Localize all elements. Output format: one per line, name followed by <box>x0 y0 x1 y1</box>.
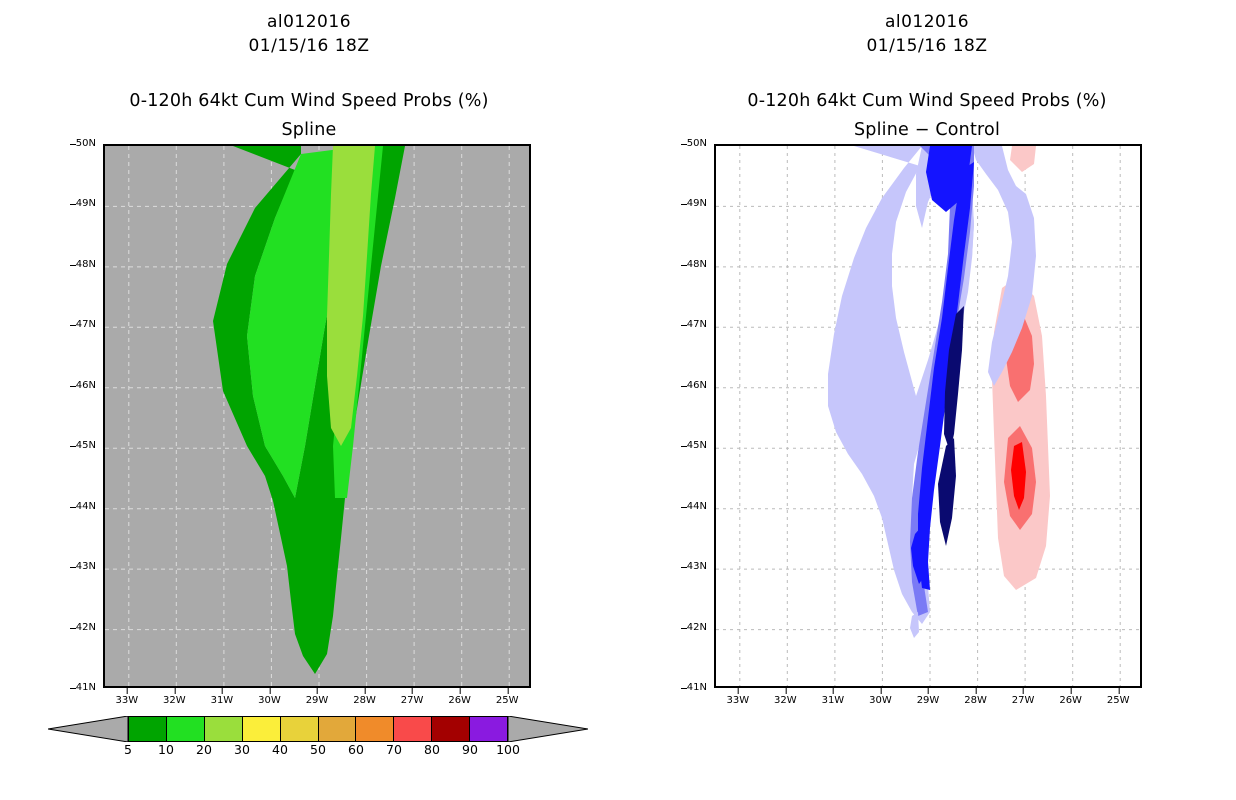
colorbar-tick-70: 70 <box>386 744 402 757</box>
colorbar-swatch-5-10 <box>129 717 167 741</box>
colorbar-tick-50: 50 <box>310 744 326 757</box>
colorbar-over-arrow-left <box>508 716 588 742</box>
xtick-label-30w: 30W <box>258 696 281 706</box>
xtick-label-26w: 26W <box>448 696 471 706</box>
xtick-label-29w: 29W <box>306 696 329 706</box>
ytick-label-44n: 44N <box>76 502 96 512</box>
colorbar-swatch-30-40 <box>243 717 281 741</box>
map-canvas-difference <box>714 144 1142 688</box>
contour-layer-difference <box>716 146 1142 688</box>
ytick-label-41n-right: 41N <box>687 683 707 693</box>
ytick-label-42n: 42N <box>76 623 96 633</box>
xtick-label-27w: 27W <box>401 696 424 706</box>
colorbar-swatch-70-80 <box>394 717 432 741</box>
xtick-label-26w-right: 26W <box>1059 696 1082 706</box>
ytick-label-48n-right: 48N <box>687 260 707 270</box>
ytick-label-49n-right: 49N <box>687 199 707 209</box>
contour-band-neg-lt-10-south <box>938 438 956 546</box>
xtick-label-28w-right: 28W <box>964 696 987 706</box>
colorbar-tick-20: 20 <box>196 744 212 757</box>
ytick-label-41n: 41N <box>76 683 96 693</box>
colorbar-tick-90: 90 <box>462 744 478 757</box>
colorbar-swatch-40-50 <box>281 717 319 741</box>
colorbar-swatch-50-60 <box>319 717 357 741</box>
xtick-label-30w-right: 30W <box>869 696 892 706</box>
xtick-label-27w-right: 27W <box>1012 696 1035 706</box>
ytick-label-47n: 47N <box>76 320 96 330</box>
colorbar-swatch-20-30 <box>205 717 243 741</box>
colorbar-strip-left <box>128 716 508 742</box>
ytick-label-45n-right: 45N <box>687 441 707 451</box>
ytick-label-43n-right: 43N <box>687 562 707 572</box>
xtick-label-31w: 31W <box>211 696 234 706</box>
map-plot-difference: 50N 49N 48N 47N 46N 45N 44N 43N 42N 41N … <box>714 144 1142 688</box>
panel-spline-minus-control: al012016 01/15/16 18Z 0-120h 64kt Cum Wi… <box>618 0 1236 800</box>
ytick-label-46n: 46N <box>76 381 96 391</box>
map-canvas-spline <box>103 144 531 688</box>
colorbar-tick-10: 10 <box>158 744 174 757</box>
ytick-label-43n: 43N <box>76 562 96 572</box>
datetime-left: 01/15/16 18Z <box>0 36 618 56</box>
main-title-right: 0-120h 64kt Cum Wind Speed Probs (%) <box>618 91 1236 111</box>
panel-spline: al012016 01/15/16 18Z 0-120h 64kt Cum Wi… <box>0 0 618 800</box>
contour-band-pos-1-3-north <box>1010 146 1036 172</box>
colorbar-tick-30: 30 <box>234 744 250 757</box>
xtick-label-33w: 33W <box>115 696 138 706</box>
colorbar-probability: 5 10 20 30 40 50 60 70 80 90 100 <box>48 710 588 770</box>
subtitle-right: Spline − Control <box>618 120 1236 140</box>
ytick-label-50n: 50N <box>76 139 96 149</box>
xtick-label-28w: 28W <box>353 696 376 706</box>
colorbar-tick-40: 40 <box>272 744 288 757</box>
storm-id-left: al012016 <box>0 12 618 32</box>
colorbar-tick-5: 5 <box>124 744 132 757</box>
ytick-label-46n-right: 46N <box>687 381 707 391</box>
map-plot-spline: 50N 49N 48N 47N 46N 45N 44N 43N 42N 41N … <box>103 144 531 688</box>
xtick-label-25w: 25W <box>496 696 519 706</box>
ytick-label-45n: 45N <box>76 441 96 451</box>
colorbar-tick-60: 60 <box>348 744 364 757</box>
xtick-label-25w-right: 25W <box>1107 696 1130 706</box>
ytick-label-48n: 48N <box>76 260 96 270</box>
colorbar-swatch-10-20 <box>167 717 205 741</box>
xtick-label-32w-right: 32W <box>774 696 797 706</box>
main-title-left: 0-120h 64kt Cum Wind Speed Probs (%) <box>0 91 618 111</box>
storm-id-right: al012016 <box>618 12 1236 32</box>
subtitle-left: Spline <box>0 120 618 140</box>
colorbar-swatch-60-70 <box>356 717 394 741</box>
xtick-label-31w-right: 31W <box>822 696 845 706</box>
datetime-right: 01/15/16 18Z <box>618 36 1236 56</box>
colorbar-swatch-80-90 <box>432 717 470 741</box>
colorbar-swatch-90-100 <box>470 717 507 741</box>
ytick-label-42n-right: 42N <box>687 623 707 633</box>
xtick-label-33w-right: 33W <box>726 696 749 706</box>
contour-fleck-neg <box>910 612 919 638</box>
ytick-label-44n-right: 44N <box>687 502 707 512</box>
xtick-label-29w-right: 29W <box>917 696 940 706</box>
contour-layer-spline <box>105 146 531 688</box>
ytick-label-47n-right: 47N <box>687 320 707 330</box>
ytick-label-50n-right: 50N <box>687 139 707 149</box>
colorbar-under-arrow-left <box>48 716 128 742</box>
ytick-label-49n: 49N <box>76 199 96 209</box>
xtick-label-32w: 32W <box>163 696 186 706</box>
colorbar-tick-100: 100 <box>496 744 520 757</box>
colorbar-tick-80: 80 <box>424 744 440 757</box>
